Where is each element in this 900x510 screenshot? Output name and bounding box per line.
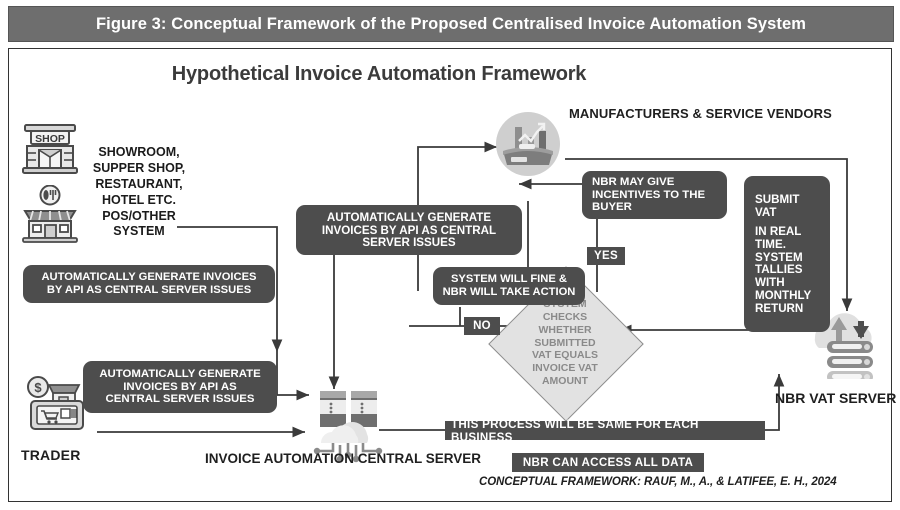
- nbr-incentives-line-2: BUYER: [592, 201, 705, 214]
- diagram-canvas: Hypothetical Invoice Automation Framewor…: [8, 48, 892, 502]
- decision-line-2: WHETHER: [538, 324, 591, 337]
- auto-invoice-trader-line-1: INVOICES BY API AS: [99, 381, 260, 394]
- submit-vat-line-4: WITH: [755, 276, 823, 289]
- svg-text:SHOP: SHOP: [35, 133, 65, 145]
- central-server-label: INVOICE AUTOMATION CENTRAL SERVER: [205, 451, 481, 466]
- yes-flag: YES: [587, 247, 625, 265]
- decision-line-4: VAT EQUALS: [532, 349, 598, 362]
- figure-caption-bar: Figure 3: Conceptual Framework of the Pr…: [8, 6, 894, 42]
- nbr-access-strip: NBR CAN ACCESS ALL DATA: [512, 453, 704, 472]
- svg-text:$: $: [34, 380, 42, 395]
- auto-invoice-left-line-0: AUTOMATICALLY GENERATE INVOICES: [41, 271, 256, 284]
- retail-line-3: HOTEL ETC.: [79, 193, 199, 209]
- decision-line-3: SUBMITTED: [534, 337, 595, 350]
- retail-line-5: SYSTEM: [79, 224, 199, 240]
- retail-line-0: SHOWROOM,: [79, 145, 199, 161]
- auto-invoice-left-box: AUTOMATICALLY GENERATE INVOICES BY API A…: [23, 265, 275, 303]
- decision-line-6: AMOUNT: [542, 375, 588, 388]
- figure-caption-text: Figure 3: Conceptual Framework of the Pr…: [96, 15, 806, 34]
- auto-invoice-mid-line-0: AUTOMATICALLY GENERATE: [322, 211, 496, 224]
- retail-line-1: SUPPER SHOP,: [79, 161, 199, 177]
- submit-vat-line-6: RETURN: [755, 302, 823, 315]
- submit-vat-line-3: TALLIES: [755, 263, 823, 276]
- nbr-incentives-line-1: INCENTIVES TO THE: [592, 189, 705, 202]
- nbr-vat-server-label: NBR VAT SERVER: [775, 390, 896, 406]
- shop-store-icon: SHOP: [21, 119, 79, 175]
- submit-vat-box: SUBMIT VAT IN REAL TIME. SYSTEM TALLIES …: [744, 176, 830, 332]
- citation-text: CONCEPTUAL FRAMEWORK: RAUF, M., A., & LA…: [479, 476, 837, 488]
- submit-vat-line-5: MONTHLY: [755, 289, 823, 302]
- auto-invoice-trader-line-0: AUTOMATICALLY GENERATE: [99, 368, 260, 381]
- restaurant-icon: [21, 185, 79, 243]
- submit-vat-title: SUBMIT VAT: [755, 193, 823, 219]
- nbr-incentives-line-0: NBR MAY GIVE: [592, 176, 705, 189]
- auto-invoice-mid-box: AUTOMATICALLY GENERATE INVOICES BY API A…: [296, 205, 522, 255]
- submit-vat-line-0: IN REAL: [755, 225, 823, 238]
- auto-invoice-trader-line-2: CENTRAL SERVER ISSUES: [99, 393, 260, 406]
- system-fine-box: SYSTEM WILL FINE & NBR WILL TAKE ACTION: [433, 267, 585, 305]
- system-fine-line-0: SYSTEM WILL FINE &: [443, 273, 576, 286]
- decision-line-1: CHECKS: [543, 311, 587, 324]
- manufacturer-factory-icon: [495, 111, 561, 177]
- auto-invoice-mid-line-2: SERVER ISSUES: [322, 236, 496, 249]
- manufacturers-label: MANUFACTURERS & SERVICE VENDORS: [569, 106, 832, 121]
- retail-types-label: SHOWROOM, SUPPER SHOP, RESTAURANT, HOTEL…: [79, 145, 199, 240]
- nbr-incentives-box: NBR MAY GIVE INCENTIVES TO THE BUYER: [582, 171, 727, 219]
- trader-icon: $: [23, 371, 89, 435]
- submit-vat-line-2: SYSTEM: [755, 251, 823, 264]
- retail-line-4: POS/OTHER: [79, 209, 199, 225]
- decision-diamond-text: SYSTEM CHECKS WHETHER SUBMITTED VAT EQUA…: [511, 289, 619, 397]
- system-fine-line-1: NBR WILL TAKE ACTION: [443, 286, 576, 299]
- retail-line-2: RESTAURANT,: [79, 177, 199, 193]
- decision-line-5: INVOICE VAT: [532, 362, 598, 375]
- no-flag: NO: [464, 317, 500, 335]
- trader-label: TRADER: [21, 447, 81, 463]
- decision-diamond: SYSTEM CHECKS WHETHER SUBMITTED VAT EQUA…: [511, 289, 619, 397]
- auto-invoice-trader-box: AUTOMATICALLY GENERATE INVOICES BY API A…: [83, 361, 277, 413]
- process-same-strip: THIS PROCESS WILL BE SAME FOR EACH BUSIN…: [445, 421, 765, 440]
- auto-invoice-left-line-1: BY API AS CENTRAL SERVER ISSUES: [41, 284, 256, 297]
- submit-vat-line-1: TIME.: [755, 238, 823, 251]
- auto-invoice-mid-line-1: INVOICES BY API AS CENTRAL: [322, 224, 496, 237]
- figure-root: Figure 3: Conceptual Framework of the Pr…: [0, 0, 900, 510]
